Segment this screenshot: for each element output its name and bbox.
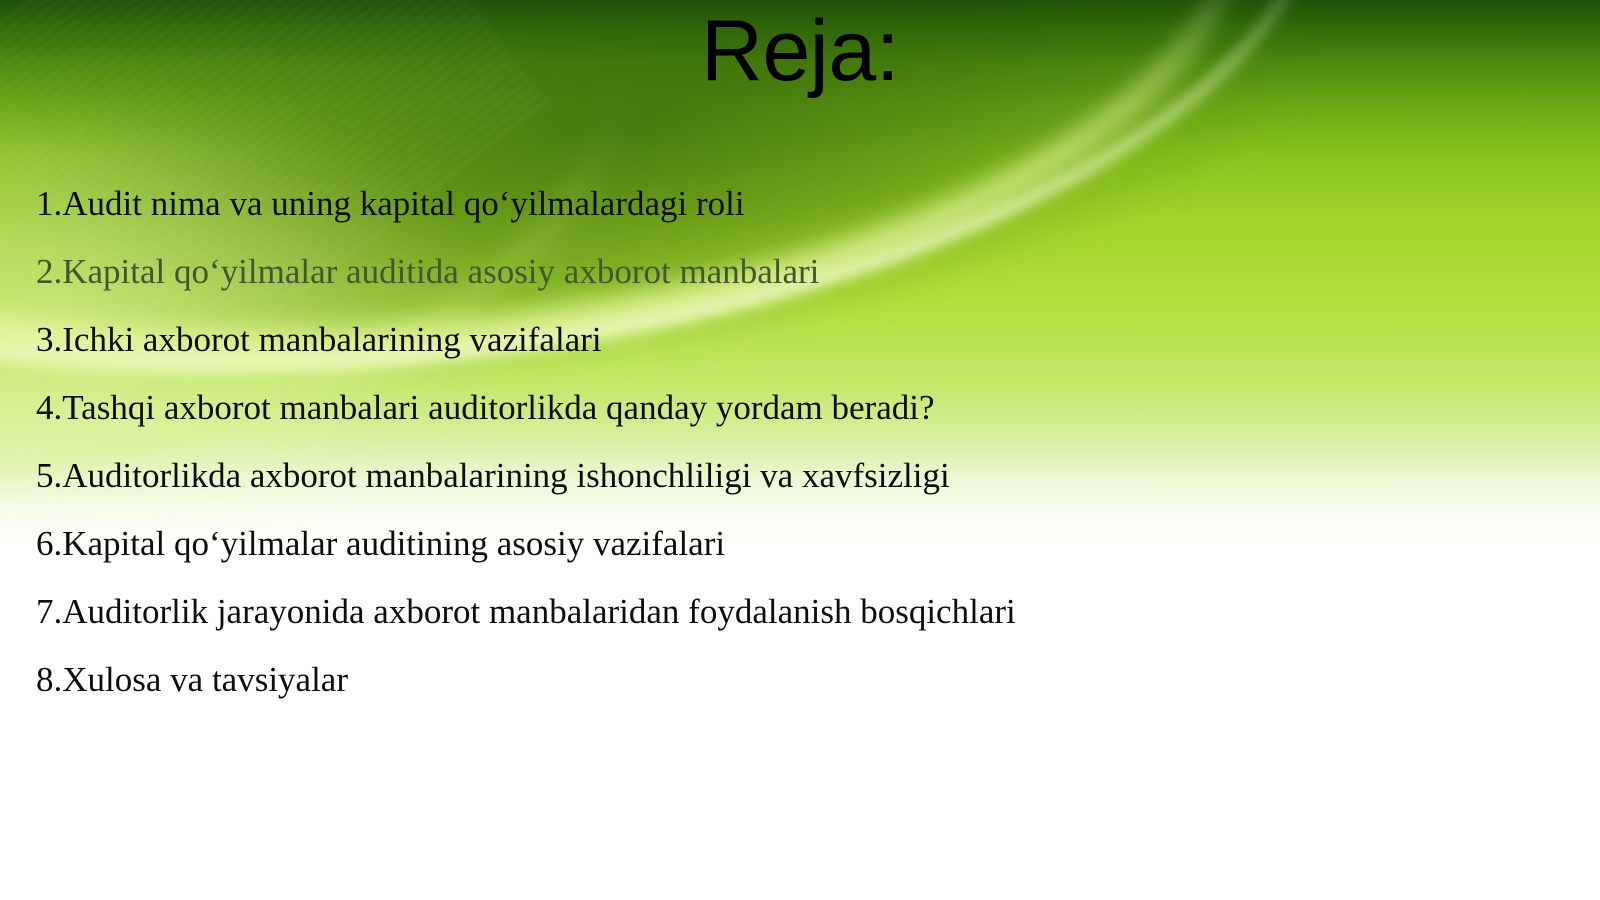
agenda-item-4[interactable]: 4.Tashqi axborot manbalari auditorlikda … <box>36 374 1556 442</box>
presentation-slide: Reja: 1.Audit nima va uning kapital qoʻy… <box>0 0 1600 900</box>
agenda-item-7[interactable]: 7.Auditorlik jarayonida axborot manbalar… <box>36 578 1556 646</box>
slide-content: Reja: 1.Audit nima va uning kapital qoʻy… <box>0 0 1600 900</box>
slide-title: Reja: <box>0 2 1600 101</box>
agenda-item-6[interactable]: 6.Kapital qoʻyilmalar auditining asosiy … <box>36 510 1556 578</box>
agenda-item-3[interactable]: 3.Ichki axborot manbalarining vazifalari <box>36 306 1556 374</box>
agenda-item-8[interactable]: 8.Xulosa va tavsiyalar <box>36 646 1556 714</box>
agenda-item-1[interactable]: 1.Audit nima va uning kapital qoʻyilmala… <box>36 170 1556 238</box>
agenda-list: 1.Audit nima va uning kapital qoʻyilmala… <box>36 170 1556 714</box>
agenda-item-2[interactable]: 2.Kapital qoʻyilmalar auditida asosiy ax… <box>36 238 1556 306</box>
agenda-item-5[interactable]: 5.Auditorlikda axborot manbalarining ish… <box>36 442 1556 510</box>
